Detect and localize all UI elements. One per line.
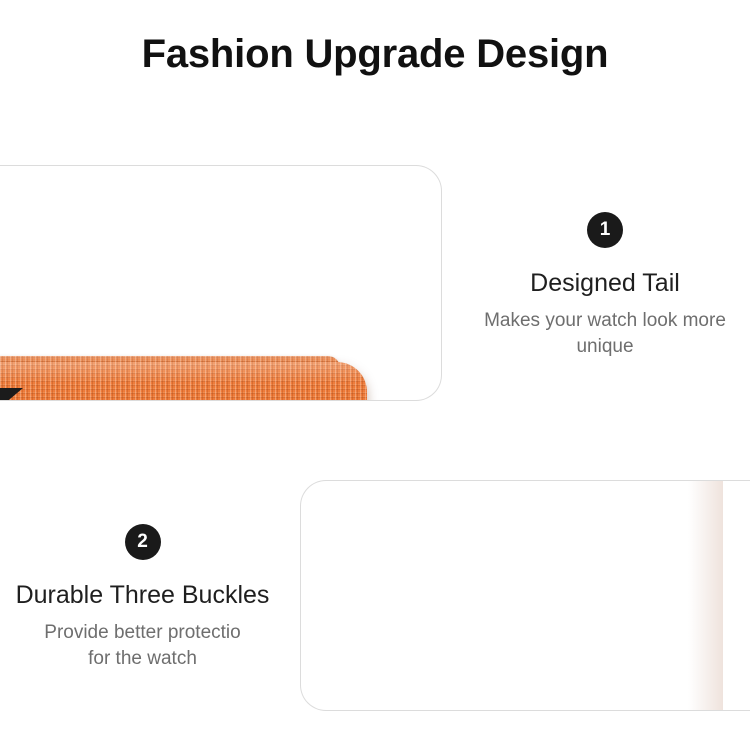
feature-body-1-line-2: unique (460, 334, 750, 360)
feature-callout-2: 2 Durable Three Buckles Provide better p… (0, 524, 285, 672)
product-photo-three-buckles (300, 480, 750, 711)
feature-heading-2: Durable Three Buckles (0, 580, 285, 610)
feature-body-1-line-1: Makes your watch look more (460, 308, 750, 334)
band-seam-1 (653, 481, 723, 710)
feature-callout-1: 1 Designed Tail Makes your watch look mo… (460, 212, 750, 360)
feature-body-2-line-1: Provide better protectio (0, 620, 285, 646)
feature-badge-1: 1 (587, 212, 623, 248)
page-title: Fashion Upgrade Design (0, 32, 750, 77)
product-photo-designed-tail: KB 05 SWEATPROOF DURABLE TENACITY Kalebo… (0, 165, 442, 401)
label-notch-top (0, 388, 23, 401)
feature-body-2: Provide better protectio for the watch (0, 620, 285, 672)
feature-body-2-line-2: for the watch (0, 646, 285, 672)
feature-body-1: Makes your watch look more unique (460, 308, 750, 360)
feature-badge-2: 2 (125, 524, 161, 560)
feature-heading-1: Designed Tail (460, 268, 750, 298)
strap-tail-layer (0, 362, 367, 401)
